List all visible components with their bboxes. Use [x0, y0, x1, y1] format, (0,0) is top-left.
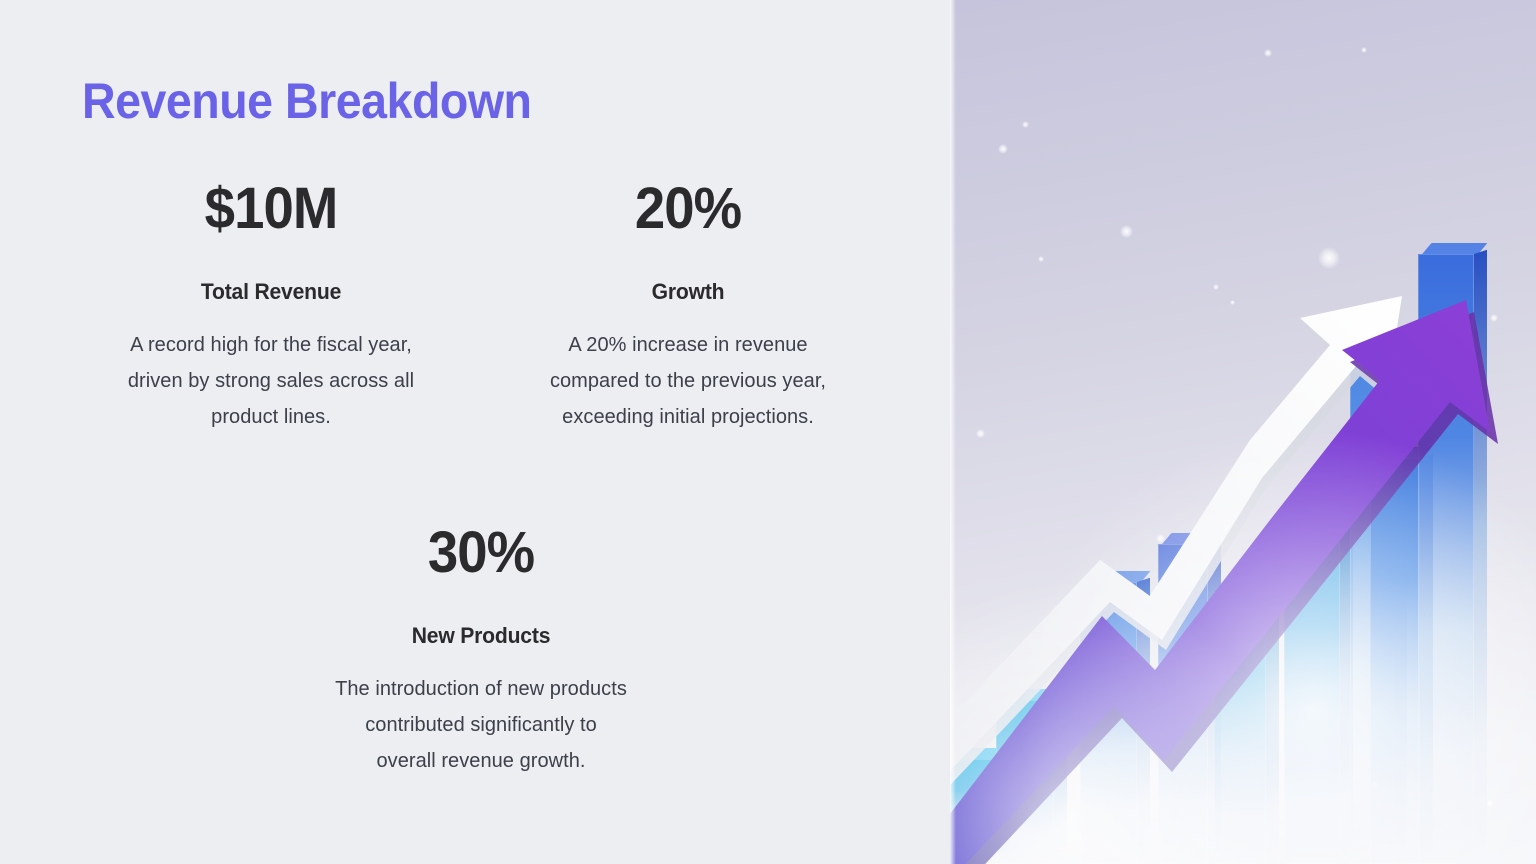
stat-value: 30%	[285, 522, 678, 585]
trend-arrows-group	[950, 0, 1536, 864]
stat-value: $10M	[91, 178, 450, 241]
stat-description: A record high for the fiscal year, drive…	[80, 327, 462, 436]
stat-block-new-products: 30% New Products The introduction of new…	[272, 522, 690, 780]
stat-label: Growth	[500, 279, 876, 305]
page-title: Revenue Breakdown	[82, 72, 531, 130]
stat-value: 20%	[504, 178, 872, 241]
stat-block-growth: 20% Growth A 20% increase in revenue com…	[492, 178, 884, 436]
purple-arrow-body	[950, 300, 1490, 864]
stat-label: New Products	[280, 623, 681, 649]
stat-description-line: product lines.	[80, 399, 462, 435]
stat-description-line: exceeding initial projections.	[492, 399, 884, 435]
left-content-panel: Revenue Breakdown $10M Total Revenue A r…	[0, 0, 950, 864]
stat-description-line: overall revenue growth.	[272, 743, 690, 779]
stat-description-line: A record high for the fiscal year,	[80, 327, 462, 363]
slide-revenue-breakdown: Revenue Breakdown $10M Total Revenue A r…	[0, 0, 1536, 864]
stat-description: The introduction of new products contrib…	[272, 671, 690, 780]
stat-description-line: The introduction of new products	[272, 671, 690, 707]
growth-chart-illustration	[950, 0, 1536, 864]
stat-description-line: A 20% increase in revenue	[492, 327, 884, 363]
stat-description-line: compared to the previous year,	[492, 363, 884, 399]
stat-description-line: driven by strong sales across all	[80, 363, 462, 399]
stat-description: A 20% increase in revenue compared to th…	[492, 327, 884, 436]
stat-label: Total Revenue	[88, 279, 455, 305]
stat-block-total-revenue: $10M Total Revenue A record high for the…	[80, 178, 462, 436]
stat-description-line: contributed significantly to	[272, 707, 690, 743]
purple-trend-arrow	[950, 300, 1498, 864]
